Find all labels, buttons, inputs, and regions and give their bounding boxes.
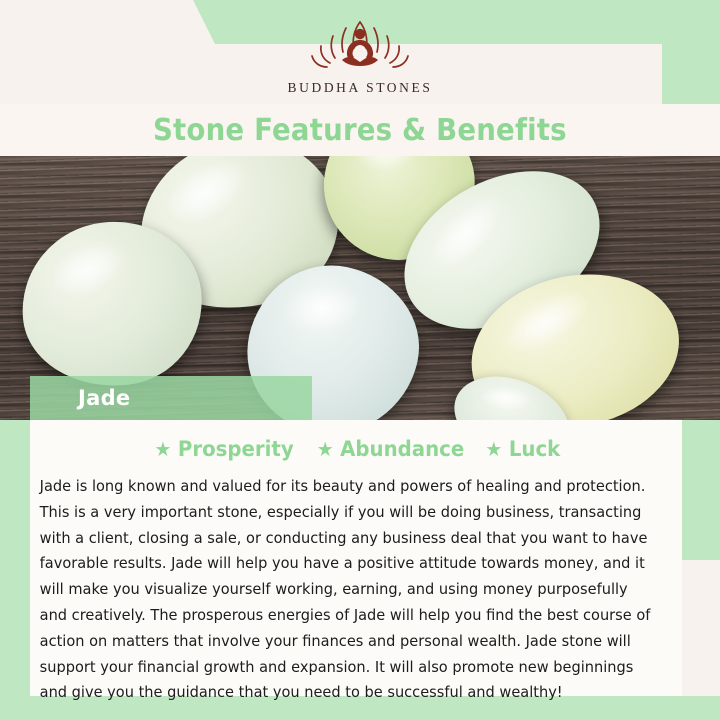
title-band: Stone Features & Benefits bbox=[0, 104, 720, 156]
star-icon: ★ bbox=[485, 439, 502, 459]
infographic-page: BUDDHA STONES Stone Features & Benefits … bbox=[0, 0, 720, 720]
keyword-label: Prosperity bbox=[177, 437, 293, 461]
stone-name-label: Jade bbox=[30, 386, 130, 410]
stone-photo: Jade bbox=[0, 154, 720, 420]
description-card: ★ Prosperity ★ Abundance ★ Luck Jade is … bbox=[30, 420, 682, 696]
star-icon: ★ bbox=[316, 439, 333, 459]
keyword-list: ★ Prosperity ★ Abundance ★ Luck bbox=[30, 420, 682, 470]
stone-caption-band: Jade bbox=[30, 376, 312, 420]
keyword-label: Abundance bbox=[340, 437, 464, 461]
keyword-label: Luck bbox=[509, 437, 560, 461]
description-text: Jade is long known and valued for its be… bbox=[30, 470, 659, 706]
brand-header: BUDDHA STONES bbox=[0, 0, 720, 110]
brand-name: BUDDHA STONES bbox=[288, 80, 433, 96]
keyword-luck: ★ Luck bbox=[485, 437, 560, 461]
keyword-abundance: ★ Abundance bbox=[316, 437, 464, 461]
lotus-meditation-icon bbox=[296, 14, 424, 76]
page-title: Stone Features & Benefits bbox=[153, 113, 567, 148]
keyword-prosperity: ★ Prosperity bbox=[154, 437, 293, 461]
star-icon: ★ bbox=[154, 439, 171, 459]
